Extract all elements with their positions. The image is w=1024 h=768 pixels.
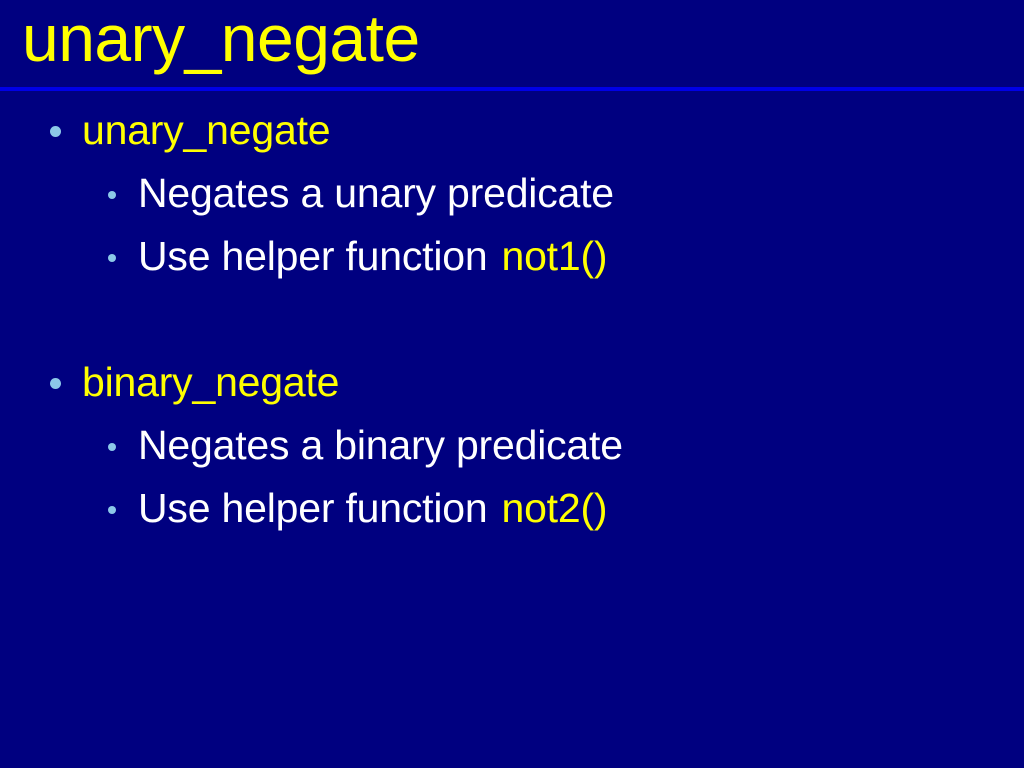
list-item: binary_negate: [0, 351, 1024, 414]
page-title: unary_negate: [22, 2, 420, 74]
bullet-dot-icon: [108, 506, 116, 514]
helper-function-name: not1(): [501, 233, 607, 279]
bullet-dot-icon: [108, 254, 116, 262]
bullet-dot-icon: [50, 126, 61, 137]
list-item-text: Use helper function: [138, 233, 487, 279]
list-item-label: unary_negate: [82, 107, 330, 153]
list-item-label: Negates a unary predicate: [138, 170, 614, 216]
list-item: Negates a binary predicate: [0, 414, 1024, 477]
helper-function-name: not2(): [501, 485, 607, 531]
slide: unary_negate unary_negate Negates a unar…: [0, 0, 1024, 768]
list-item: Use helper functionnot2(): [0, 477, 1024, 540]
list-item-label: Use helper functionnot1(): [138, 233, 607, 279]
slide-title-area: unary_negate: [0, 0, 1024, 92]
title-divider: [0, 87, 1024, 91]
list-item-label: Negates a binary predicate: [138, 422, 623, 468]
list-item-label: Use helper functionnot2(): [138, 485, 607, 531]
bullet-dot-icon: [108, 443, 116, 451]
bullet-dot-icon: [50, 378, 61, 389]
list-item: unary_negate: [0, 99, 1024, 162]
slide-body: unary_negate Negates a unary predicate U…: [0, 99, 1024, 768]
bullet-dot-icon: [108, 191, 116, 199]
list-item: Negates a unary predicate: [0, 162, 1024, 225]
list-item-label: binary_negate: [82, 359, 339, 405]
list-item: Use helper functionnot1(): [0, 225, 1024, 288]
blank-line: [0, 288, 1024, 351]
list-item-text: Use helper function: [138, 485, 487, 531]
